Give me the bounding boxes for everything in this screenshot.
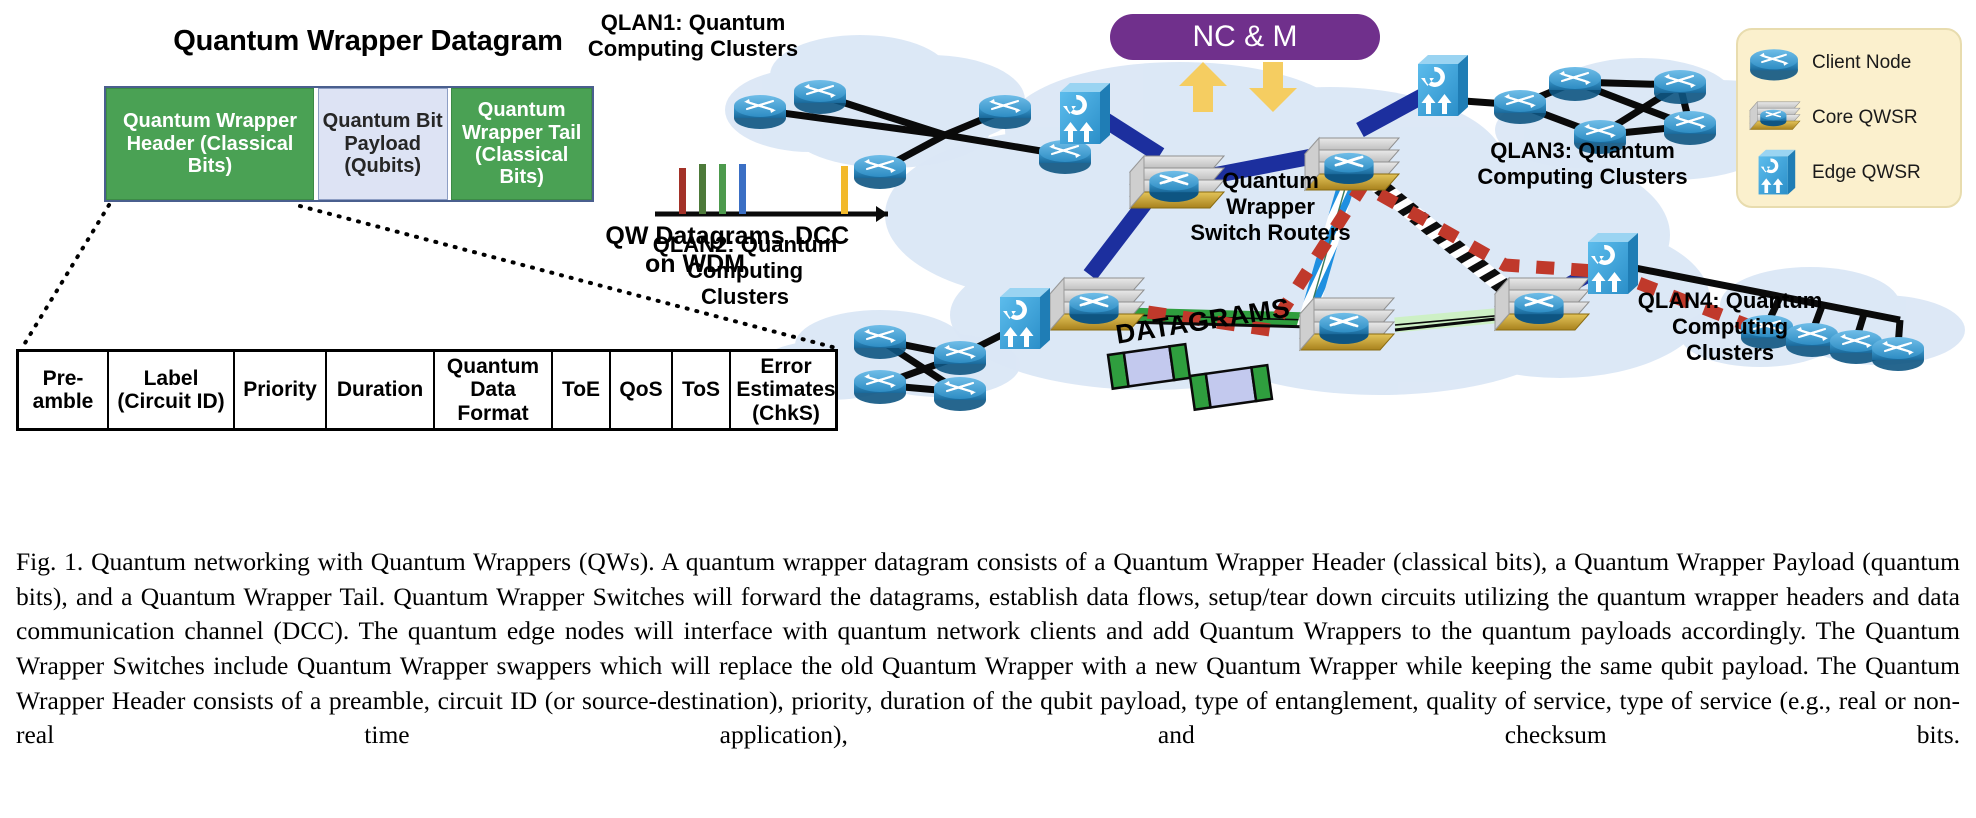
wdm-channel-bar [719, 164, 726, 214]
switch-routers-label: Quantum Wrapper Switch Routers [1188, 168, 1353, 246]
header-field-cell: Pre-amble [19, 352, 109, 428]
wdm-channel-bar [679, 168, 686, 214]
legend-item-client-node: Client Node [1746, 37, 1952, 89]
figure-caption: Fig. 1. Quantum networking with Quantum … [16, 545, 1960, 753]
legend-item-core-qwsr: Core QWSR [1746, 92, 1952, 144]
legend-label-client-node: Client Node [1812, 52, 1911, 74]
qlan1-label: QLAN1: Quantum Computing Clusters [583, 10, 803, 62]
header-field-cell: Quantum Data Format [435, 352, 553, 428]
header-field-cell: Error Estimates (ChkS) [731, 352, 841, 428]
header-field-cell: Label (Circuit ID) [109, 352, 235, 428]
header-field-cell: Duration [327, 352, 435, 428]
datagrams-label: DATAGRAMS [1082, 287, 1324, 356]
header-field-cell: Priority [235, 352, 327, 428]
legend-box: Client Node Core QWSR Edge QWSR [1736, 28, 1962, 208]
qlan4-label: QLAN4: Quantum Computing Clusters [1625, 288, 1835, 366]
figure-canvas: Quantum Wrapper Datagram Quantum Wrapper… [0, 0, 1976, 818]
datagram-panel-title: Quantum Wrapper Datagram [138, 25, 598, 58]
segment-tail: Quantum Wrapper Tail (Classical Bits) [451, 88, 592, 200]
qlan2-links [880, 318, 1035, 392]
qlan3-links [1450, 82, 1690, 135]
segment-payload: Quantum Bit Payload (Qubits) [318, 88, 448, 200]
edge-qwsr-icon [1746, 146, 1802, 200]
client-node-icon [1746, 38, 1802, 88]
wdm-channel-bar [841, 166, 848, 214]
legend-label-core-qwsr: Core QWSR [1812, 107, 1918, 129]
wdm-channel-bars [655, 150, 905, 214]
segment-header: Quantum Wrapper Header (Classical Bits) [106, 88, 314, 200]
header-field-cell: ToS [673, 352, 731, 428]
wdm-channel-bar [699, 164, 706, 214]
header-fields-table: Pre-ambleLabel (Circuit ID)PriorityDurat… [16, 349, 838, 431]
header-field-cell: ToE [553, 352, 611, 428]
qlan3-label: QLAN3: Quantum Computing Clusters [1470, 138, 1695, 190]
core-qwsr-icon [1746, 93, 1802, 143]
quantum-wrapper-datagram-box: Quantum Wrapper Header (Classical Bits) … [104, 86, 594, 202]
datagram-chips [1108, 344, 1272, 410]
ncm-arrows [1179, 62, 1297, 112]
legend-label-edge-qwsr: Edge QWSR [1812, 162, 1921, 184]
arrow-up-icon [1179, 62, 1227, 112]
qlan2-label: QLAN2: Quantum Computing Clusters [640, 232, 850, 310]
header-field-cell: QoS [611, 352, 673, 428]
legend-item-edge-qwsr: Edge QWSR [1746, 147, 1952, 199]
nc-and-m-banner[interactable]: NC & M [1110, 14, 1380, 60]
wdm-channel-bar [739, 164, 746, 214]
arrow-down-icon [1249, 62, 1297, 112]
